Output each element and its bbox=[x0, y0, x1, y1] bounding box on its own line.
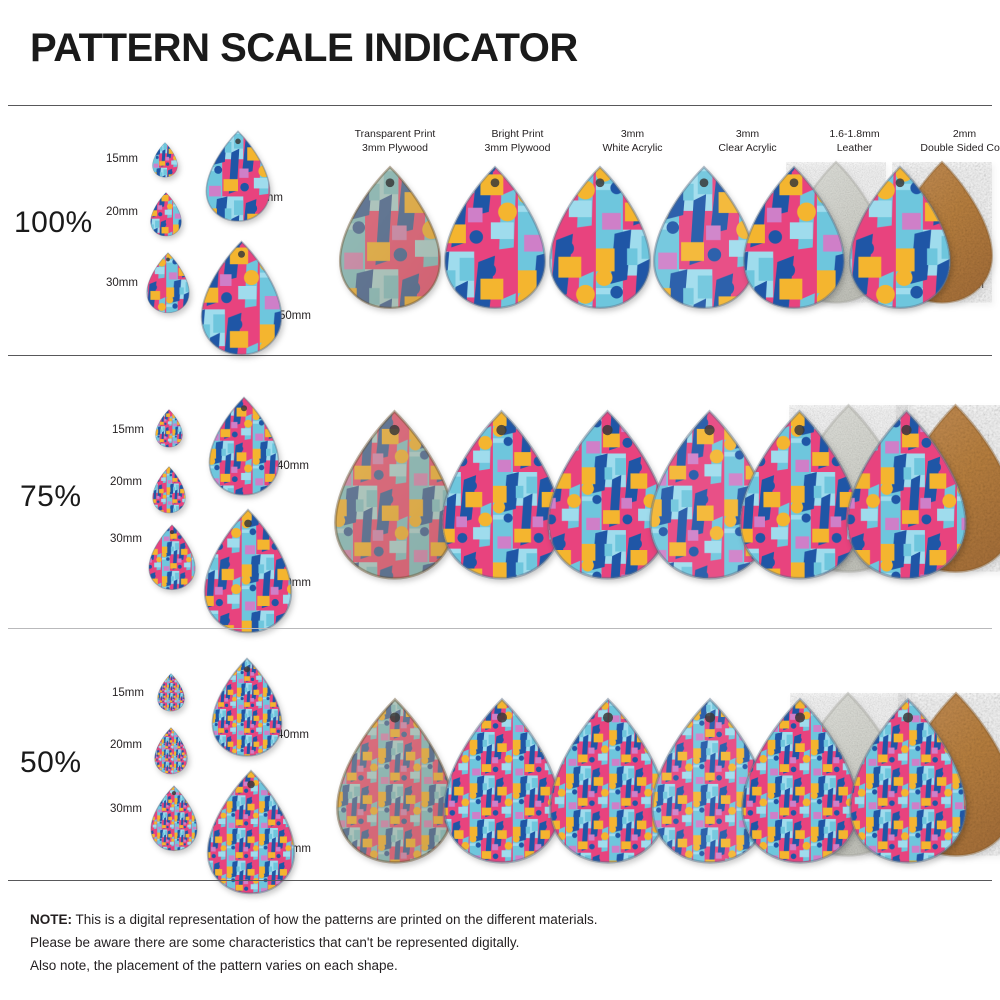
teardrop-size-40mm-75-body bbox=[208, 396, 280, 497]
size-label-15mm-100: 15mm bbox=[106, 153, 138, 165]
teardrop-leather-50 bbox=[740, 697, 860, 866]
teardrop-transparent-plywood-75 bbox=[333, 409, 456, 582]
teardrop-size-15mm-100 bbox=[152, 142, 178, 178]
size-label-30mm-100: 30mm bbox=[106, 277, 138, 289]
size-label-40mm-75: 40mm bbox=[277, 460, 309, 472]
teardrop-size-15mm-75 bbox=[155, 409, 183, 448]
teardrop-size-20mm-50-body bbox=[154, 727, 188, 775]
section-50: 50% 15mm 20mm 30mm 40mm 50mm 60mm bbox=[0, 629, 1000, 880]
size-label-15mm-50: 15mm bbox=[112, 687, 144, 699]
teardrop-white-acrylic-100-body bbox=[548, 165, 652, 311]
teardrop-size-30mm-100 bbox=[146, 252, 190, 314]
teardrop-leather-75-body bbox=[738, 409, 861, 582]
size-label-20mm-100: 20mm bbox=[106, 206, 138, 218]
size-label-20mm-75: 20mm bbox=[110, 476, 142, 488]
note-label: NOTE: bbox=[30, 912, 72, 927]
teardrop-size-50mm-50 bbox=[206, 769, 296, 896]
teardrop-size-50mm-50-body bbox=[206, 769, 296, 896]
teardrop-bright-plywood-75-body bbox=[440, 409, 563, 582]
teardrop-bright-plywood-50 bbox=[442, 697, 562, 866]
teardrop-cork-100 bbox=[848, 165, 952, 311]
teardrop-cork-75-body bbox=[845, 409, 968, 582]
divider-bottom bbox=[8, 880, 992, 881]
teardrop-transparent-plywood-50-body bbox=[335, 697, 455, 866]
note-block: NOTE: This is a digital representation o… bbox=[30, 908, 930, 977]
teardrop-white-acrylic-100 bbox=[548, 165, 652, 311]
teardrop-size-50mm-75-body bbox=[203, 508, 293, 635]
teardrop-size-15mm-75-body bbox=[155, 409, 183, 448]
teardrop-size-40mm-75 bbox=[208, 396, 280, 497]
teardrop-transparent-plywood-75-body bbox=[333, 409, 456, 582]
teardrop-size-30mm-50 bbox=[150, 785, 198, 852]
teardrop-size-15mm-100-body bbox=[152, 142, 178, 178]
teardrop-cork-75 bbox=[845, 409, 968, 582]
teardrop-size-50mm-100 bbox=[200, 240, 283, 357]
teardrop-size-15mm-50-body bbox=[157, 673, 185, 712]
teardrop-size-20mm-50 bbox=[154, 727, 188, 775]
teardrop-size-20mm-75-body bbox=[152, 466, 186, 514]
teardrop-size-20mm-100 bbox=[150, 192, 182, 237]
teardrop-clear-acrylic-100-body bbox=[652, 165, 756, 311]
teardrop-clear-acrylic-100 bbox=[652, 165, 756, 311]
scale-label-100: 100% bbox=[14, 206, 93, 240]
teardrop-cork-50 bbox=[848, 697, 968, 866]
teardrop-size-50mm-100-body bbox=[200, 240, 283, 357]
note-line1-text: This is a digital representation of how … bbox=[72, 912, 598, 927]
teardrop-leather-100-body bbox=[742, 165, 846, 311]
teardrop-size-30mm-75 bbox=[148, 524, 196, 591]
teardrop-size-20mm-100-body bbox=[150, 192, 182, 237]
teardrop-transparent-plywood-100 bbox=[338, 165, 442, 311]
teardrop-size-30mm-50-body bbox=[150, 785, 198, 852]
scale-label-50: 50% bbox=[20, 746, 82, 780]
teardrop-size-30mm-100-body bbox=[146, 252, 190, 314]
teardrop-leather-50-body bbox=[740, 697, 860, 866]
teardrop-cork-100-body bbox=[848, 165, 952, 311]
teardrop-size-30mm-75-body bbox=[148, 524, 196, 591]
teardrop-leather-100 bbox=[742, 165, 846, 311]
teardrop-transparent-plywood-100-body bbox=[338, 165, 442, 311]
teardrop-bright-plywood-100 bbox=[443, 165, 547, 311]
teardrop-cork-50-body bbox=[848, 697, 968, 866]
note-line-2: Please be aware there are some character… bbox=[30, 931, 930, 954]
teardrop-bright-plywood-50-body bbox=[442, 697, 562, 866]
note-line-3: Also note, the placement of the pattern … bbox=[30, 954, 930, 977]
teardrop-size-40mm-100-body bbox=[205, 130, 271, 223]
teardrop-size-15mm-50 bbox=[157, 673, 185, 712]
teardrop-size-40mm-100 bbox=[205, 130, 271, 223]
teardrop-bright-plywood-100-body bbox=[443, 165, 547, 311]
section-100: 100% 15mm 20mm 30mm 40mm 50mm 60mm bbox=[0, 0, 1000, 355]
note-line-1: NOTE: This is a digital representation o… bbox=[30, 908, 930, 931]
size-label-30mm-75: 30mm bbox=[110, 533, 142, 545]
size-label-15mm-75: 15mm bbox=[112, 424, 144, 436]
teardrop-size-50mm-75 bbox=[203, 508, 293, 635]
size-label-50mm-100: 50mm bbox=[279, 310, 311, 322]
teardrop-bright-plywood-75 bbox=[440, 409, 563, 582]
size-label-30mm-50: 30mm bbox=[110, 803, 142, 815]
teardrop-size-40mm-50 bbox=[211, 657, 283, 758]
size-label-20mm-50: 20mm bbox=[110, 739, 142, 751]
scale-label-75: 75% bbox=[20, 480, 82, 514]
teardrop-size-20mm-75 bbox=[152, 466, 186, 514]
teardrop-transparent-plywood-50 bbox=[335, 697, 455, 866]
teardrop-leather-75 bbox=[738, 409, 861, 582]
section-75: 75% 15mm 20mm 30mm 40mm 50mm 60mm bbox=[0, 356, 1000, 628]
teardrop-size-40mm-50-body bbox=[211, 657, 283, 758]
